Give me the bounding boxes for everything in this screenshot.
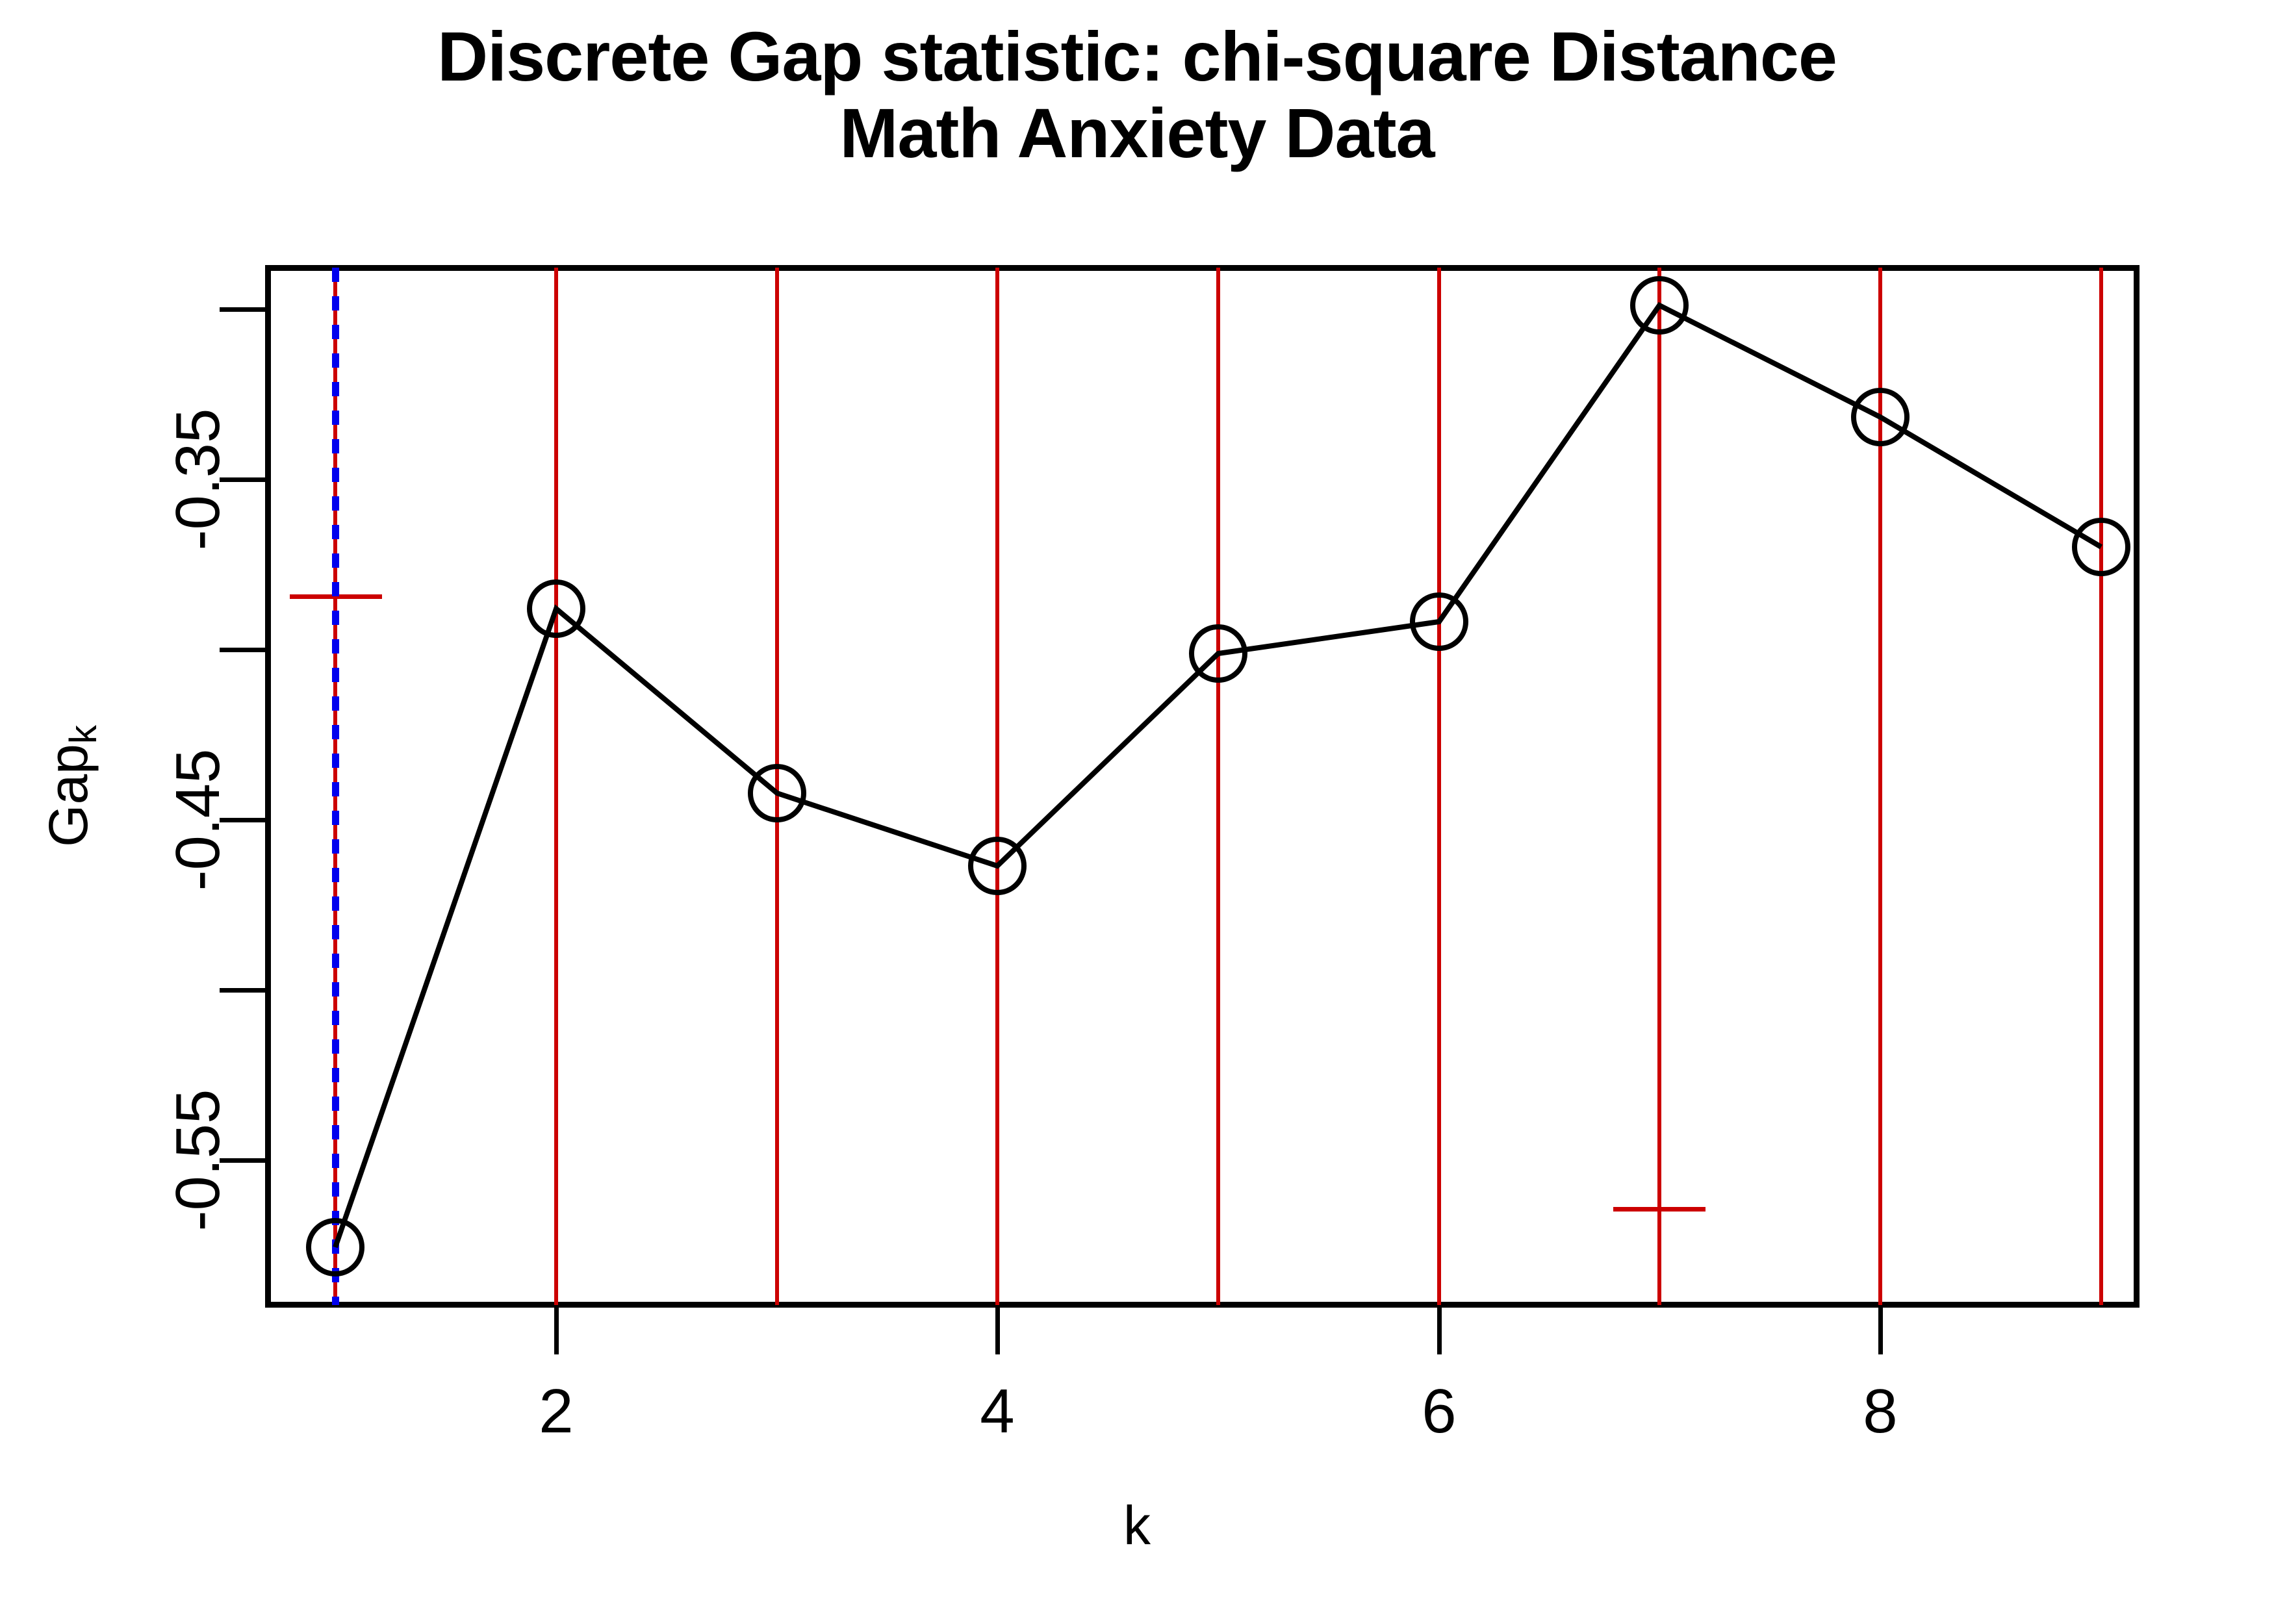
x-tick-2 bbox=[554, 1308, 559, 1354]
chart-canvas: Discrete Gap statistic: chi-square Dista… bbox=[0, 0, 2274, 1624]
data-point-k6[interactable] bbox=[1410, 592, 1468, 651]
chart-title-line-2: Math Anxiety Data bbox=[0, 95, 2274, 171]
x-tick-8 bbox=[1878, 1308, 1883, 1354]
x-tick-4 bbox=[995, 1308, 1000, 1354]
data-point-k7[interactable] bbox=[1630, 276, 1689, 335]
data-point-k2[interactable] bbox=[527, 579, 585, 638]
data-point-k3[interactable] bbox=[748, 764, 806, 822]
x-axis-title: k bbox=[1072, 1494, 1202, 1557]
x-tick-label-4: 4 bbox=[867, 1376, 1127, 1447]
optimal-k-dashed-line bbox=[332, 268, 339, 1305]
data-point-k8[interactable] bbox=[1851, 388, 1910, 446]
x-tick-6 bbox=[1437, 1308, 1442, 1354]
vline-k6 bbox=[1437, 268, 1441, 1305]
data-point-k1[interactable] bbox=[306, 1218, 364, 1276]
y-axis-title-subscript: k bbox=[62, 725, 105, 744]
x-tick-label-6: 6 bbox=[1309, 1376, 1569, 1447]
data-point-k9[interactable] bbox=[2072, 518, 2130, 576]
errorbar-cap-k7 bbox=[1613, 1207, 1705, 1212]
chart-title-line-1: Discrete Gap statistic: chi-square Dista… bbox=[0, 18, 2274, 95]
x-tick-label-8: 8 bbox=[1750, 1376, 2010, 1447]
y-axis-title: Gapk bbox=[36, 656, 101, 916]
vline-k2 bbox=[554, 268, 558, 1305]
vline-k9 bbox=[2099, 268, 2103, 1305]
y-tick-0 bbox=[220, 307, 266, 312]
y-tick-label-0.55: -0.55 bbox=[167, 1030, 229, 1290]
chart-title: Discrete Gap statistic: chi-square Dista… bbox=[0, 18, 2274, 171]
y-tick-label-0.45: -0.45 bbox=[167, 690, 229, 950]
y-tick-2 bbox=[220, 648, 266, 652]
y-tick-4 bbox=[220, 988, 266, 993]
y-axis-title-main: Gap bbox=[38, 744, 99, 847]
data-point-k4[interactable] bbox=[968, 837, 1027, 895]
vline-k7 bbox=[1657, 268, 1661, 1305]
vline-k4 bbox=[995, 268, 999, 1305]
y-tick-label-0.35: -0.35 bbox=[167, 349, 229, 609]
vline-k5 bbox=[1216, 268, 1220, 1305]
x-tick-label-2: 2 bbox=[426, 1376, 686, 1447]
data-point-k5[interactable] bbox=[1189, 624, 1247, 683]
